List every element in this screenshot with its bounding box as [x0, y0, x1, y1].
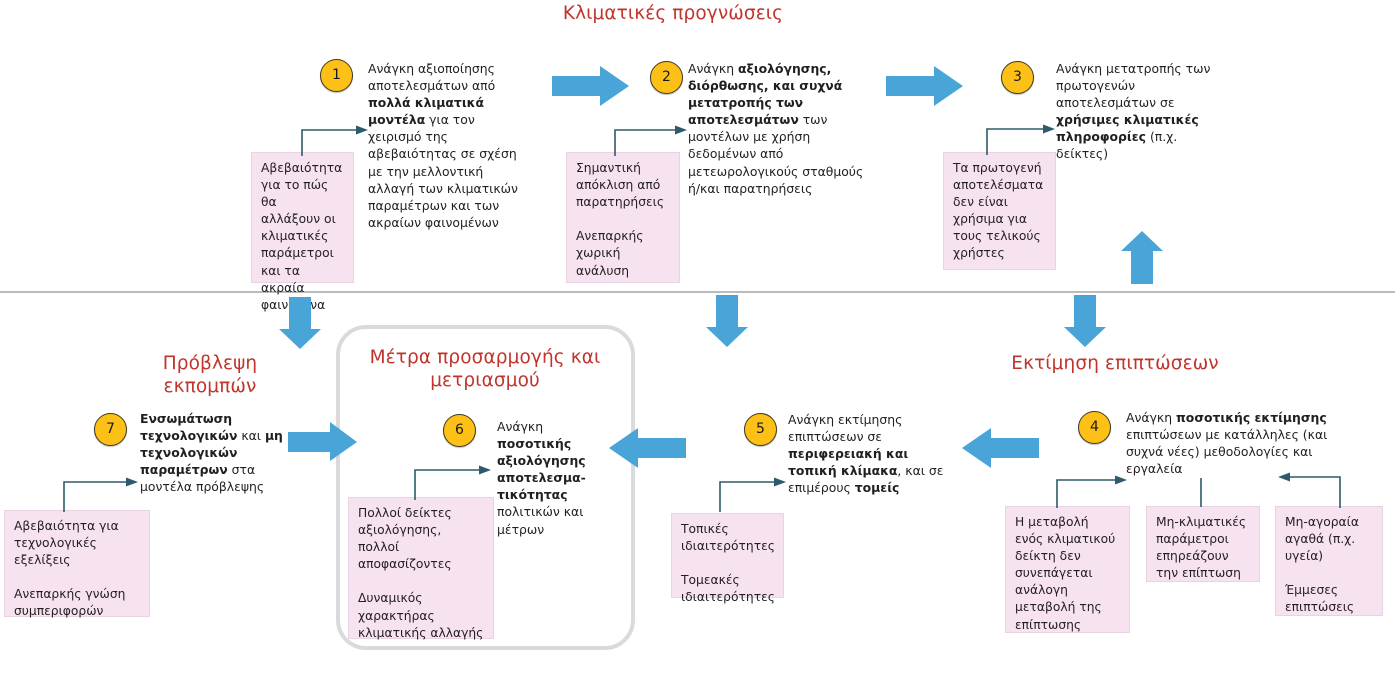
step-text-2: Ανάγκη αξιολόγησης, διόρθωσης, και συχνά…	[688, 60, 868, 197]
step-text-7: Ενσωμάτωση τεχνολογικών και μη τεχνολογι…	[140, 410, 290, 495]
step-circle-4: 4	[1078, 411, 1111, 444]
flow-arrow-step4-to-step5	[962, 427, 1040, 469]
flow-arrow-step3-to-step4	[1063, 295, 1107, 348]
section-title-adaptation-mitigation: Μέτρα προσαρμογής και μετριασμού	[340, 346, 630, 392]
connector-arrow-p2-to-step2	[613, 118, 693, 158]
problem-box-local-sectoral-specifics: Τοπικές ιδιαιτερότητες Τομεακές ιδιαιτερ…	[671, 513, 784, 598]
step-circle-3: 3	[1001, 61, 1034, 94]
connector-arrow-p6-to-step6	[413, 458, 499, 502]
flow-arrow-down-middle	[705, 295, 749, 348]
problem-box-nonclimatic-params: Μη-κλιματικές παράμετροι επηρεάζουν την …	[1146, 506, 1260, 582]
flow-arrow-step7-to-step6	[288, 422, 358, 462]
problem-box-nonmarket-goods: Μη-αγοραία αγαθά (π.χ. υγεία) Έμμεσες επ…	[1275, 506, 1383, 616]
step-circle-6: 6	[443, 414, 476, 447]
step-circle-1: 1	[320, 59, 353, 92]
step-text-6: Ανάγκη ποσοτικής αξιολόγησης αποτελεσμα-…	[497, 418, 607, 538]
section-title-impact-assessment: Εκτίμηση επιπτώσεων	[940, 352, 1290, 375]
flow-arrow-step1-to-step2	[552, 65, 630, 107]
problem-box-indicator-change-nonlinear: Η μεταβολή ενός κλιματικού δείκτη δεν συ…	[1005, 506, 1130, 633]
flow-arrow-up-right-feedback	[1120, 229, 1164, 285]
connector-line-p4b-to-step4	[1196, 478, 1206, 508]
connector-arrow-p7-to-step7	[62, 470, 148, 514]
step-text-3: Ανάγκη μετατροπής των πρωτογενών αποτελε…	[1056, 60, 1216, 163]
connector-arrow-p4c-to-step4	[1270, 465, 1360, 510]
connector-arrow-p1-to-step1	[300, 120, 374, 158]
flow-arrow-step7-to-step1	[278, 297, 322, 350]
flow-arrow-step2-to-step3	[886, 65, 964, 107]
problem-box-technology-uncertainty: Αβεβαιότητα για τεχνολογικές εξελίξεις Α…	[4, 510, 150, 617]
connector-arrow-p4a-to-step4	[1055, 468, 1135, 510]
connector-arrow-p5-to-step5	[718, 470, 798, 514]
step-circle-5: 5	[744, 413, 777, 446]
problem-box-uncertainty-climate-params: Αβεβαιότητα για το πώς θα αλλάξουν οι κλ…	[251, 152, 354, 283]
connector-arrow-p3-to-step3	[985, 117, 1065, 157]
problem-box-deviation-observations: Σημαντική απόκλιση από παρατηρήσεις Ανεπ…	[566, 152, 680, 283]
horizontal-divider	[0, 291, 1395, 293]
problem-box-many-indicators-decisionmakers: Πολλοί δείκτες αξιολόγησης, πολλοί αποφα…	[348, 497, 494, 639]
section-title-climate-forecasts: Κλιματικές προγνώσεις	[448, 2, 898, 25]
step-text-5: Ανάγκη εκτίμησης επιπτώσεων σε περιφερει…	[788, 411, 948, 496]
step-circle-2: 2	[650, 61, 683, 94]
diagram-canvas: Κλιματικές προγνώσεις 1 Ανάγκη αξιοποίησ…	[0, 0, 1395, 674]
step-text-1: Ανάγκη αξιοποίησης αποτελεσμάτων από πολ…	[368, 60, 518, 231]
step-circle-7: 7	[94, 413, 127, 446]
problem-box-raw-results-not-useful: Τα πρωτογενή αποτελέσματα δεν είναι χρήσ…	[943, 152, 1056, 270]
section-title-emissions-forecast: Πρόβλεψη εκπομπών	[110, 352, 310, 398]
flow-arrow-step5-to-step6	[609, 427, 687, 469]
